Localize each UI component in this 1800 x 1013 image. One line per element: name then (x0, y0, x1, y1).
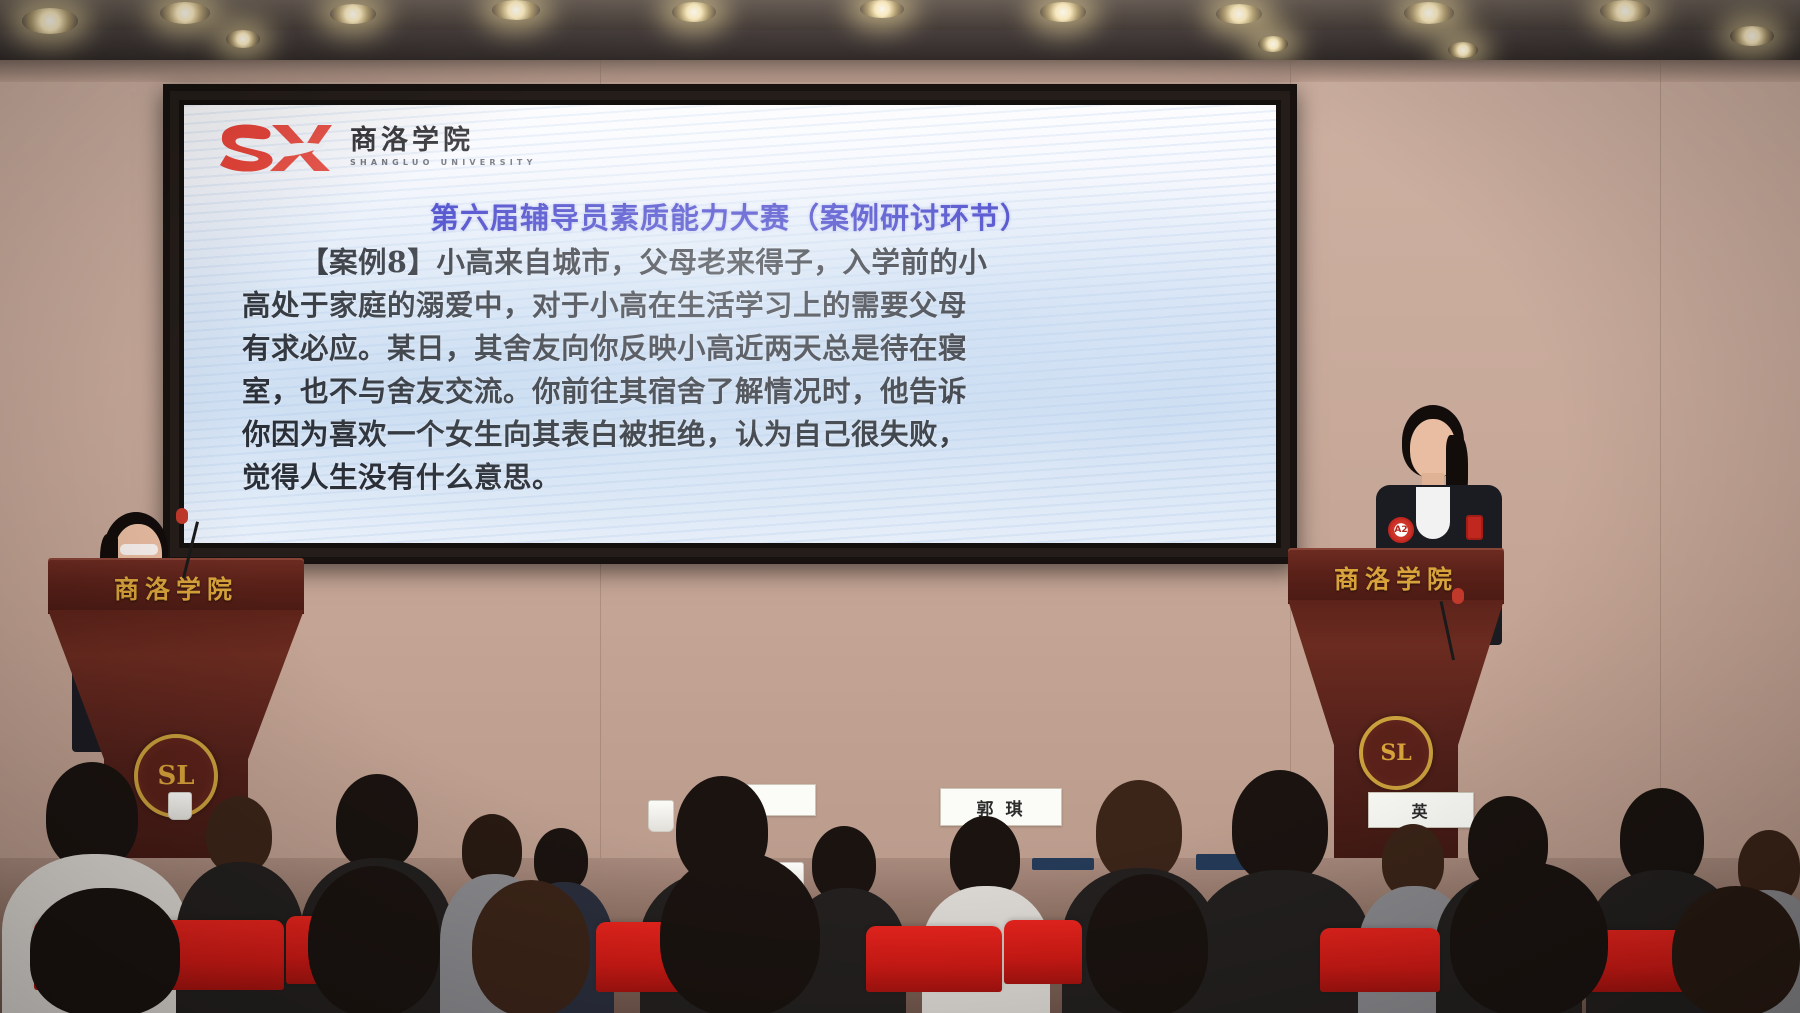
ceiling-light (492, 0, 540, 20)
audience-chair (1320, 928, 1440, 992)
ceiling-light (226, 30, 260, 48)
audience: 郭 琪 英 (0, 770, 1800, 1013)
audience-head-front (1086, 874, 1208, 1013)
slide-body-line: 室，也不与舍友交流。你前往其宿舍了解情况时，他告诉 (242, 370, 1232, 413)
speaker-collar (1416, 487, 1450, 539)
contestant-badge: A2 (1388, 517, 1414, 543)
microphone-head-right (1452, 588, 1464, 604)
badge-label: A2 (1394, 525, 1407, 535)
paper-cup (648, 800, 674, 832)
audience-head (336, 774, 418, 870)
ceiling-light (330, 4, 376, 24)
audience-head-front (472, 880, 590, 1013)
ceiling-light (672, 2, 716, 22)
audience-head-front (308, 866, 440, 1013)
ceiling-light (1258, 36, 1288, 52)
ribbon-badge (1466, 515, 1483, 540)
name-card-text: 英 (1411, 798, 1430, 822)
slide-body: 【案例8】小高来自城市，父母老来得子，入学前的小 高处于家庭的溺爱中，对于小高在… (242, 241, 1232, 499)
audience-head (1232, 770, 1328, 884)
podium-label: 商洛学院 (48, 570, 304, 606)
audience-head-front (30, 888, 180, 1013)
slide-title: 第六届辅导员素质能力大赛（案例研讨环节） (184, 195, 1276, 237)
slide-body-line: 高处于家庭的溺爱中，对于小高在生活学习上的需要父母 (242, 284, 1232, 327)
ceiling-light (860, 0, 904, 18)
audience-head-front (1450, 862, 1608, 1013)
presentation-slide: 商洛学院 SHANGLUO UNIVERSITY 第六届辅导员素质能力大赛（案例… (184, 105, 1276, 543)
wall-seam (1660, 60, 1661, 860)
ceiling-light (1730, 26, 1774, 46)
emblem-glyph: SL (1380, 740, 1411, 766)
paper-cup (168, 792, 192, 820)
audience-head (1096, 780, 1182, 882)
ceiling-light (22, 8, 78, 34)
ceiling-light (1448, 42, 1478, 58)
right-arrow-icon (1170, 537, 1276, 543)
conference-hall-photo: 商洛学院 SHANGLUO UNIVERSITY 第六届辅导员素质能力大赛（案例… (0, 0, 1800, 1013)
audience-head-front (1672, 886, 1800, 1013)
ceiling-light (160, 2, 210, 24)
laptop (1032, 858, 1094, 870)
ceiling-light (1600, 0, 1650, 22)
speaker-glasses (120, 544, 158, 555)
ceiling-light (1404, 2, 1454, 24)
name-card: 英 (1368, 792, 1474, 828)
university-logo: 商洛学院 SHANGLUO UNIVERSITY (214, 119, 537, 175)
ceiling-light (1040, 2, 1086, 22)
audience-head-front (660, 852, 820, 1013)
ceiling-light (1216, 4, 1262, 24)
microphone-head-left (176, 508, 188, 524)
slide-body-line: 觉得人生没有什么意思。 (242, 456, 1232, 499)
audience-chair (1004, 920, 1082, 984)
logo-english-name: SHANGLUO UNIVERSITY (350, 158, 537, 167)
logo-chinese-name: 商洛学院 (350, 127, 537, 154)
slide-body-line: 【案例8】小高来自城市，父母老来得子，入学前的小 (242, 241, 1232, 284)
audience-chair (866, 926, 1002, 992)
slide-body-line: 你因为喜欢一个女生向其表白被拒绝，认为自己很失败， (242, 413, 1232, 456)
sl-monogram-icon (214, 119, 336, 175)
wall-top-band (0, 60, 1800, 82)
projection-screen: 商洛学院 SHANGLUO UNIVERSITY 第六届辅导员素质能力大赛（案例… (163, 84, 1297, 564)
slide-body-line: 有求必应。某日，其舍友向你反映小高近两天总是待在寝 (242, 327, 1232, 370)
podium-label: 商洛学院 (1288, 560, 1504, 596)
